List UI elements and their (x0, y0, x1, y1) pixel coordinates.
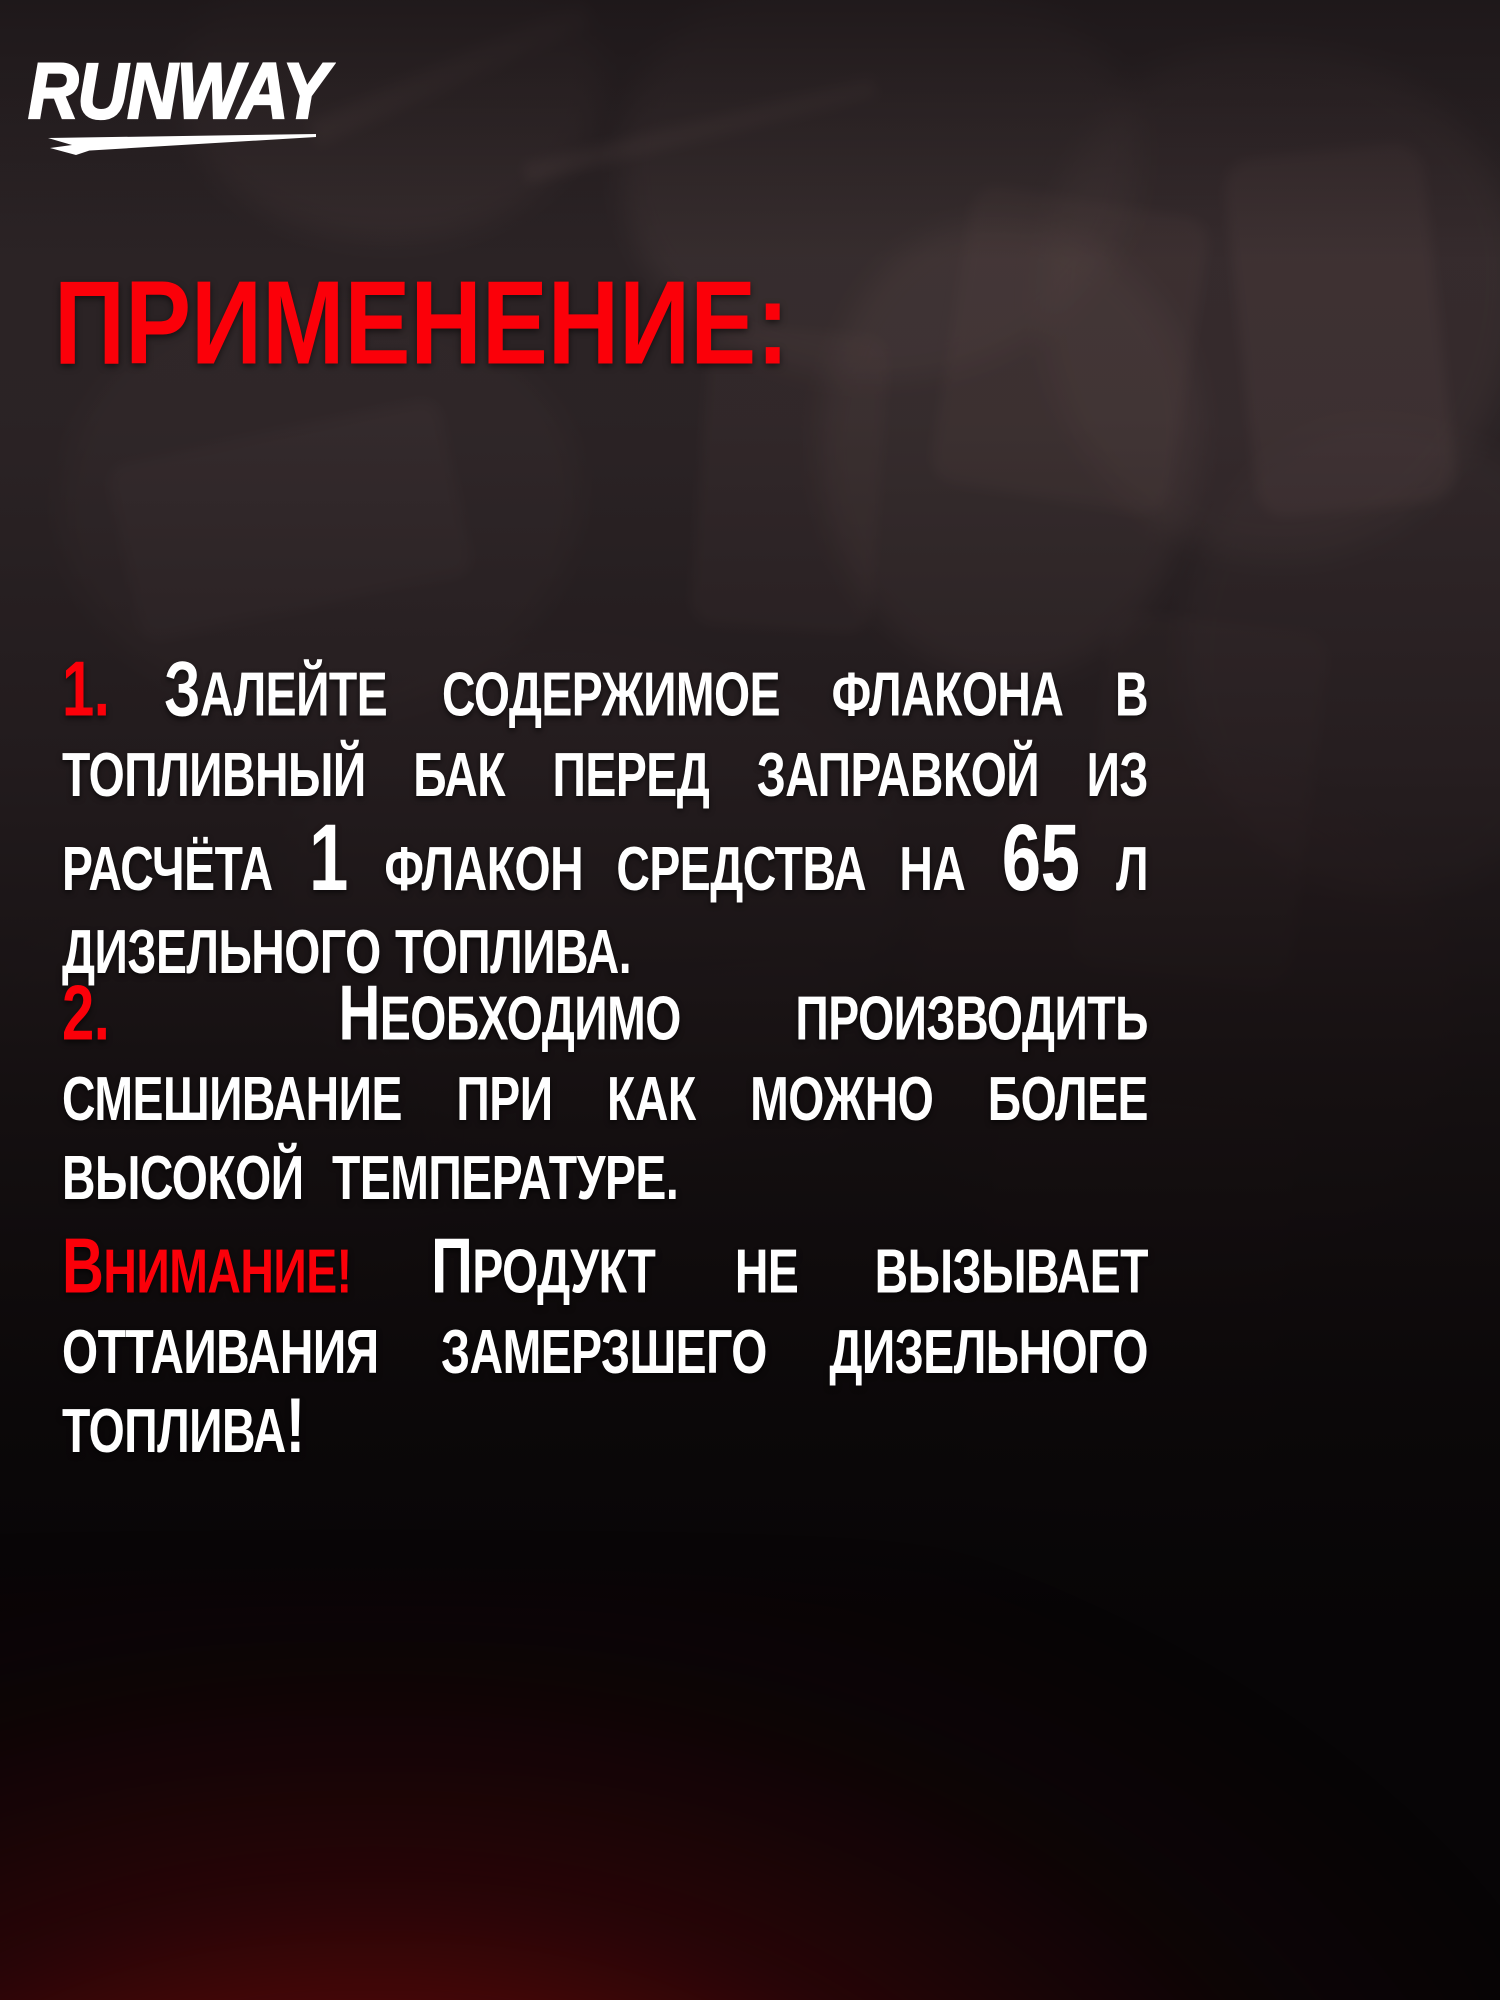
swoosh-underline-icon (48, 134, 316, 156)
warning-label-rest: НИМАНИЕ! (103, 1237, 351, 1307)
instruction-2-marker: 2. (62, 970, 109, 1057)
warning-item: ВНИМАНИЕ! ПРОДУКТ НЕ ВЫЗЫВАЕТ ОТТАИВАНИЯ… (62, 1227, 1148, 1467)
brand-logo: RUNWAY (28, 52, 328, 148)
poster-root: RUNWAY ПРИМЕНЕНИЕ: 1. ЗАЛЕЙТЕ СОДЕРЖИМОЕ… (0, 0, 1500, 2000)
background-red-glow (0, 1580, 1500, 2000)
instruction-1-marker: 1. (62, 646, 109, 733)
instructions-block: 1. ЗАЛЕЙТЕ СОДЕРЖИМОЕ ФЛАКОНА В ТОПЛИВНЫ… (62, 650, 1148, 1406)
warning-bang: ! (286, 1383, 305, 1470)
instruction-1-dose-bottles: 1 (309, 805, 348, 911)
instruction-1-lead-rest: АЛЕЙТЕ (200, 659, 387, 729)
warning-label-cap: В (62, 1223, 103, 1310)
instruction-item-1: 1. ЗАЛЕЙТЕ СОДЕРЖИМОЕ ФЛАКОНА В ТОПЛИВНЫ… (62, 650, 1148, 988)
brand-logo-text: RUNWAY (28, 52, 328, 130)
instruction-1-lead-cap: З (164, 646, 200, 733)
warning-lead-cap: П (431, 1223, 472, 1310)
instruction-1-dose-litres: 65 (1002, 805, 1080, 911)
instruction-2-lead-rest: ЕОБХОДИМО (380, 983, 681, 1053)
page-title: ПРИМЕНЕНИЕ: (54, 262, 789, 386)
warning-lead-rest: РОДУКТ (472, 1237, 655, 1307)
instruction-1-body-middle: ФЛАКОН СРЕДСТВА НА (384, 834, 965, 904)
instruction-item-2: 2. НЕОБХОДИМО ПРОИЗВОДИТЬ СМЕШИВАНИЕ ПРИ… (62, 974, 1148, 1214)
instruction-2-lead-cap: Н (338, 970, 379, 1057)
